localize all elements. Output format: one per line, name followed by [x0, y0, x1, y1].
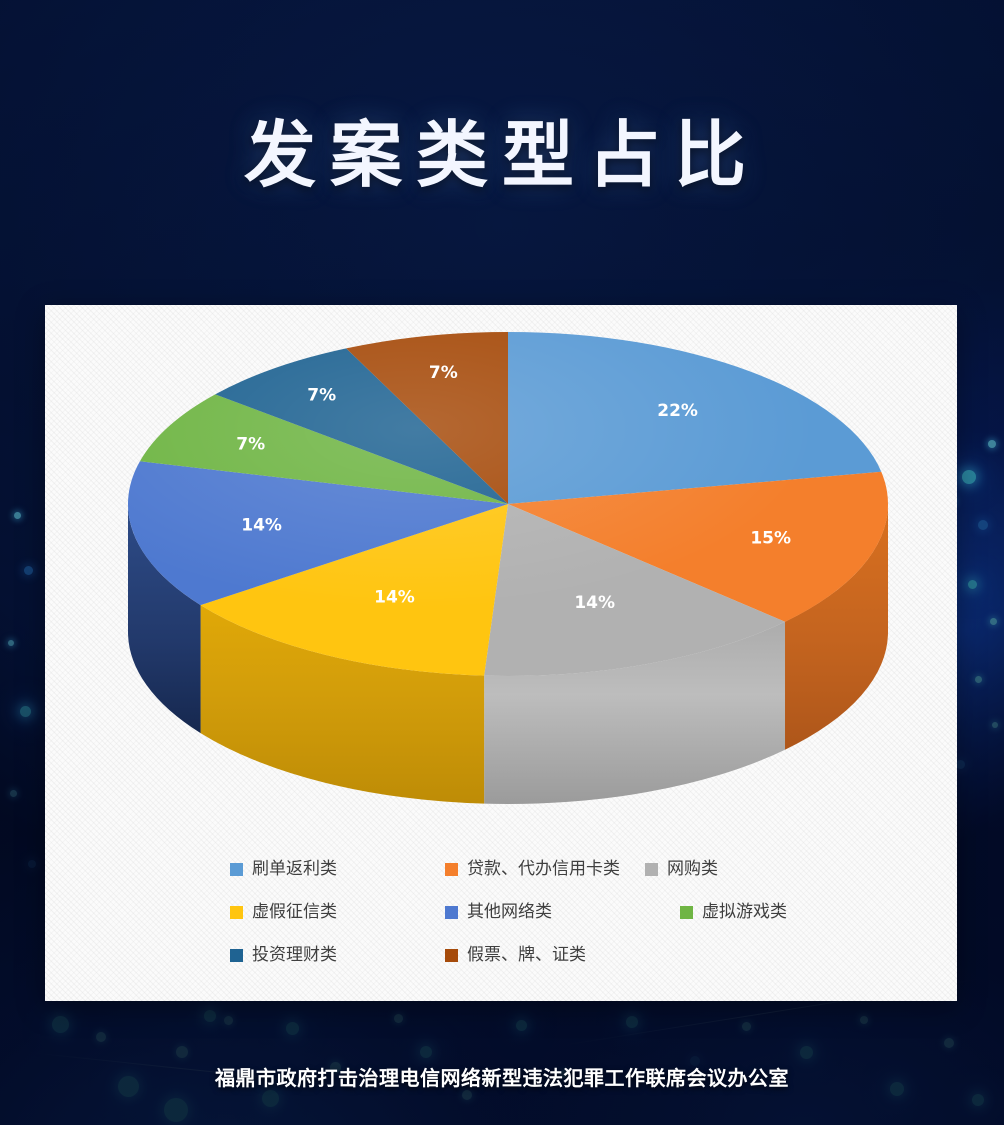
legend-label: 假票、牌、证类: [467, 947, 586, 964]
pie-chart-svg: 22%15%14%14%14%7%7%7%: [45, 305, 957, 865]
pie-value-label: 15%: [750, 529, 791, 549]
legend-row: 投资理财类 假票、牌、证类: [230, 934, 807, 977]
legend-label: 贷款、代办信用卡类: [467, 861, 620, 878]
legend-swatch-icon: [230, 863, 243, 876]
pie-value-label: 7%: [429, 363, 458, 383]
legend-item-xuniyouxi[interactable]: 虚拟游戏类: [680, 904, 787, 921]
pie-value-label: 7%: [307, 385, 336, 405]
legend-label: 网购类: [667, 861, 718, 878]
legend-row: 虚假征信类 其他网络类 虚拟游戏类: [230, 891, 807, 934]
legend-item-jiapiao[interactable]: 假票、牌、证类: [445, 947, 586, 964]
legend-swatch-icon: [680, 906, 693, 919]
legend-item-qitawangluo[interactable]: 其他网络类: [445, 904, 680, 921]
pie-value-label: 14%: [574, 593, 615, 613]
legend-label: 其他网络类: [467, 904, 552, 921]
legend-swatch-icon: [445, 863, 458, 876]
legend-item-shuadanfanli[interactable]: 刷单返利类: [230, 861, 445, 878]
chart-card: 22%15%14%14%14%7%7%7% 刷单返利类 贷款、代办信用卡类 网购…: [45, 305, 957, 1001]
legend-label: 刷单返利类: [252, 861, 337, 878]
legend-swatch-icon: [445, 906, 458, 919]
pie-chart: 22%15%14%14%14%7%7%7%: [45, 305, 957, 865]
legend-swatch-icon: [230, 906, 243, 919]
legend-item-touzilicai[interactable]: 投资理财类: [230, 947, 445, 964]
legend-swatch-icon: [230, 949, 243, 962]
legend-swatch-icon: [645, 863, 658, 876]
pie-value-label: 7%: [236, 435, 265, 455]
legend-label: 投资理财类: [252, 947, 337, 964]
legend-row: 刷单返利类 贷款、代办信用卡类 网购类: [230, 848, 807, 891]
legend-swatch-icon: [445, 949, 458, 962]
legend-item-wanggou[interactable]: 网购类: [645, 861, 718, 878]
pie-value-label: 22%: [657, 401, 698, 421]
pie-value-label: 14%: [241, 515, 282, 535]
footer-organization: 福鼎市政府打击治理电信网络新型违法犯罪工作联席会议办公室: [0, 1062, 1004, 1091]
legend-label: 虚拟游戏类: [702, 904, 787, 921]
page-title: 发案类型占比: [0, 96, 1004, 201]
chart-legend: 刷单返利类 贷款、代办信用卡类 网购类 虚假征信类 其他网络类 虚拟游: [45, 848, 957, 977]
pie-highlight: [128, 332, 888, 676]
legend-item-xujiazhengxin[interactable]: 虚假征信类: [230, 904, 445, 921]
legend-label: 虚假征信类: [252, 904, 337, 921]
legend-item-daikuan[interactable]: 贷款、代办信用卡类: [445, 861, 645, 878]
pie-value-label: 14%: [374, 587, 415, 607]
